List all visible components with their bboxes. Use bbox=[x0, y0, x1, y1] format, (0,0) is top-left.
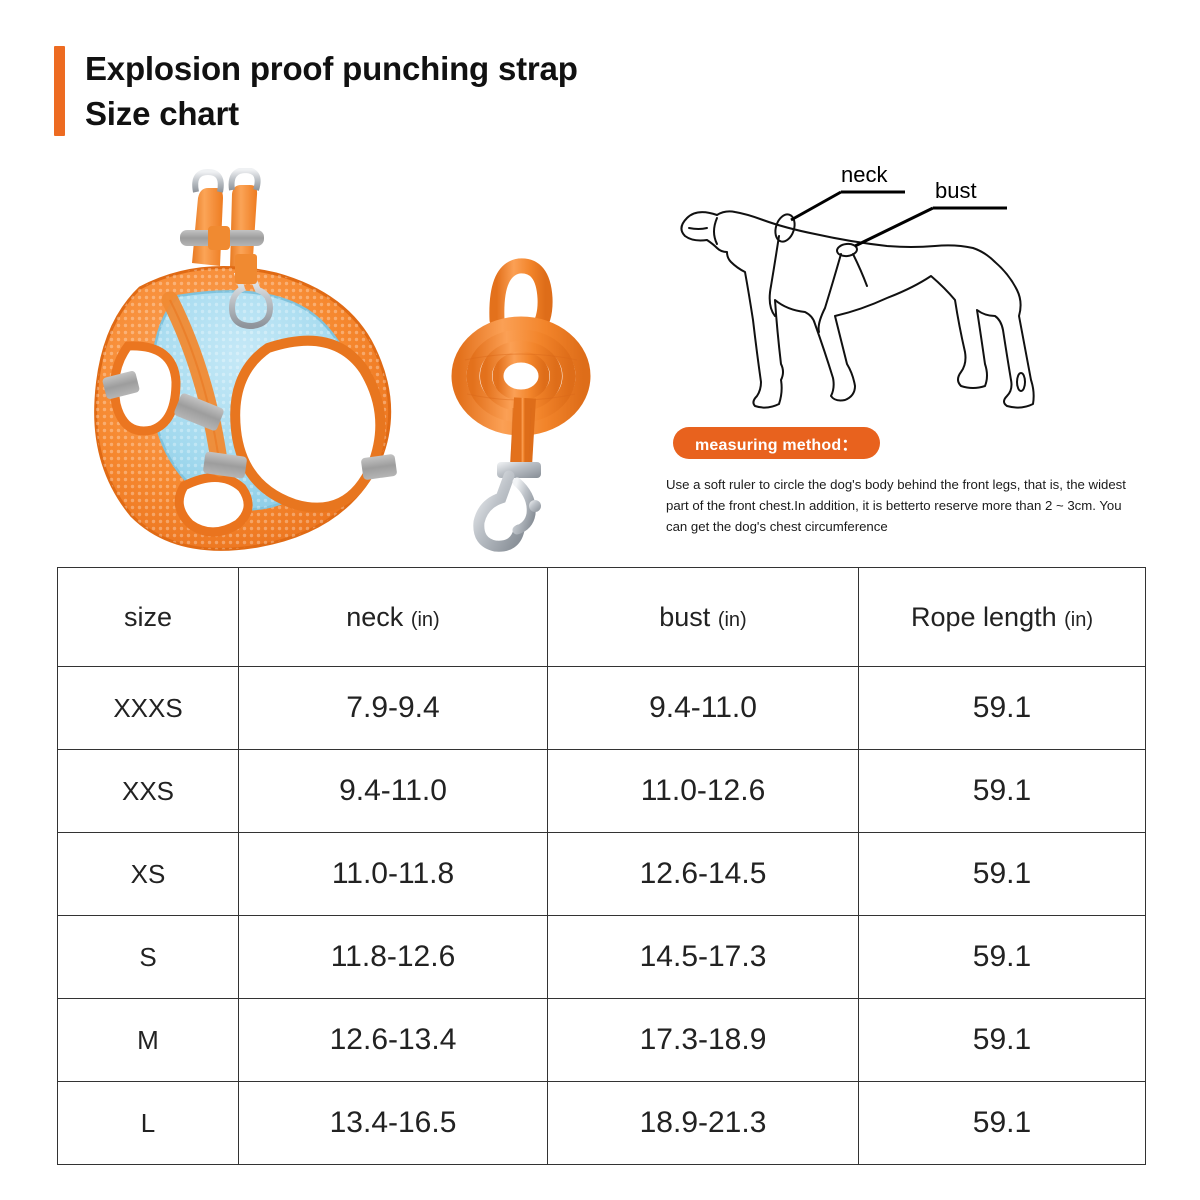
cell-rope: 59.1 bbox=[859, 667, 1146, 750]
cell-neck: 9.4-11.0 bbox=[239, 750, 548, 833]
header-rope-label: Rope length bbox=[911, 602, 1057, 632]
harness-body bbox=[96, 268, 390, 550]
harness-product-image bbox=[80, 168, 410, 553]
table-row: L 13.4-16.5 18.9-21.3 59.1 bbox=[58, 1082, 1146, 1165]
cell-size: XXS bbox=[58, 750, 239, 833]
bust-leader-line bbox=[855, 208, 1007, 246]
cell-bust: 14.5-17.3 bbox=[548, 916, 859, 999]
header-bust: bust (in) bbox=[548, 568, 859, 667]
bust-label: bust bbox=[935, 178, 977, 203]
dog-measurement-diagram: neck bust bbox=[655, 140, 1095, 410]
header-bust-label: bust bbox=[659, 602, 710, 632]
header-size-label: size bbox=[124, 602, 172, 632]
header-size: size bbox=[58, 568, 239, 667]
table-row: XS 11.0-11.8 12.6-14.5 59.1 bbox=[58, 833, 1146, 916]
table-row: XXXS 7.9-9.4 9.4-11.0 59.1 bbox=[58, 667, 1146, 750]
neck-label: neck bbox=[841, 162, 888, 187]
cell-neck: 7.9-9.4 bbox=[239, 667, 548, 750]
measuring-method-description: Use a soft ruler to circle the dog's bod… bbox=[666, 474, 1128, 537]
header-neck-unit: (in) bbox=[411, 609, 440, 631]
header-neck: neck (in) bbox=[239, 568, 548, 667]
header-rope-length: Rope length (in) bbox=[859, 568, 1146, 667]
cell-neck: 11.0-11.8 bbox=[239, 833, 548, 916]
table-row: S 11.8-12.6 14.5-17.3 59.1 bbox=[58, 916, 1146, 999]
page-title: Explosion proof punching strap Size char… bbox=[54, 46, 578, 136]
cell-neck: 12.6-13.4 bbox=[239, 999, 548, 1082]
title-line-2: Size chart bbox=[85, 91, 578, 136]
cell-size: XS bbox=[58, 833, 239, 916]
cell-size: S bbox=[58, 916, 239, 999]
cell-neck: 13.4-16.5 bbox=[239, 1082, 548, 1165]
cell-rope: 59.1 bbox=[859, 750, 1146, 833]
cell-size: L bbox=[58, 1082, 239, 1165]
title-accent-bar bbox=[54, 46, 65, 136]
cell-rope: 59.1 bbox=[859, 916, 1146, 999]
title-line-1: Explosion proof punching strap bbox=[85, 46, 578, 91]
leash-snap-hook bbox=[479, 462, 541, 546]
table-row: XXS 9.4-11.0 11.0-12.6 59.1 bbox=[58, 750, 1146, 833]
cell-bust: 9.4-11.0 bbox=[548, 667, 859, 750]
table-header-row: size neck (in) bust (in) Rope length (in… bbox=[58, 568, 1146, 667]
cell-rope: 59.1 bbox=[859, 999, 1146, 1082]
cell-bust: 11.0-12.6 bbox=[548, 750, 859, 833]
leash-product-image bbox=[425, 248, 615, 553]
header-neck-label: neck bbox=[346, 602, 403, 632]
neck-leader-line bbox=[791, 192, 905, 220]
cell-neck: 11.8-12.6 bbox=[239, 916, 548, 999]
cell-bust: 12.6-14.5 bbox=[548, 833, 859, 916]
header-rope-unit: (in) bbox=[1064, 609, 1093, 631]
size-chart-table: size neck (in) bust (in) Rope length (in… bbox=[57, 567, 1146, 1165]
header-bust-unit: (in) bbox=[718, 609, 747, 631]
title-text-group: Explosion proof punching strap Size char… bbox=[85, 46, 578, 136]
cell-bust: 17.3-18.9 bbox=[548, 999, 859, 1082]
cell-rope: 59.1 bbox=[859, 833, 1146, 916]
measuring-method-badge: measuring method： bbox=[673, 427, 880, 459]
table-row: M 12.6-13.4 17.3-18.9 59.1 bbox=[58, 999, 1146, 1082]
cell-size: M bbox=[58, 999, 239, 1082]
cell-rope: 59.1 bbox=[859, 1082, 1146, 1165]
cell-size: XXXS bbox=[58, 667, 239, 750]
cell-bust: 18.9-21.3 bbox=[548, 1082, 859, 1165]
